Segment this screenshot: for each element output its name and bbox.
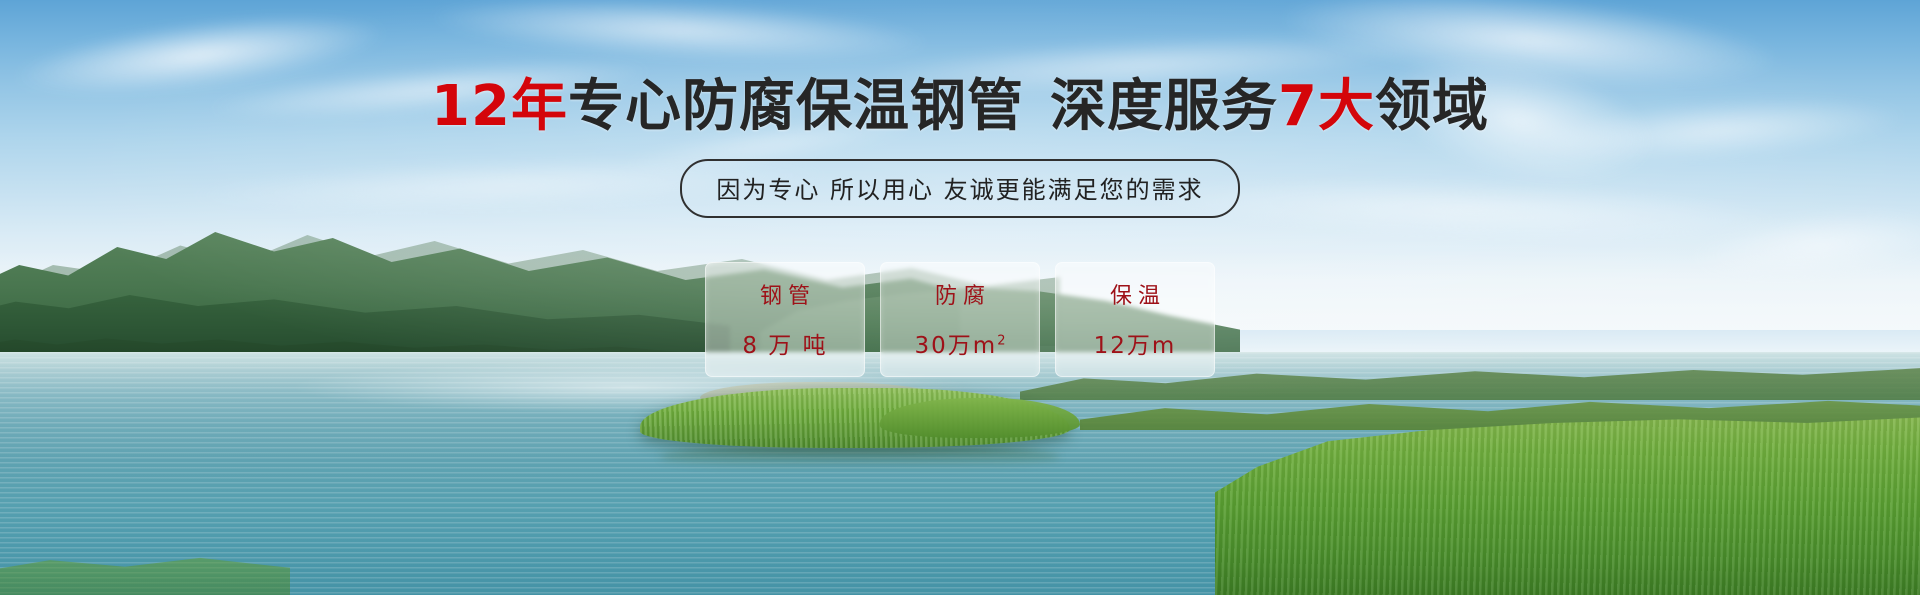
stat-card-label: 保温: [1104, 278, 1166, 310]
stat-card-list: 钢管 8 万 吨 防腐 30万m2 保温 12万m: [705, 262, 1215, 377]
headline-main: 专心防腐保温钢管: [568, 74, 1024, 139]
banner-content: 12年专心防腐保温钢管深度服务7大领域 因为专心 所以用心 友诚更能满足您的需求…: [0, 0, 1920, 595]
headline-service: 深度服务: [1050, 74, 1278, 139]
stat-card-value-text: 8 万 吨: [742, 333, 827, 359]
headline-years: 12年: [431, 74, 568, 139]
stat-card-value-superscript: 2: [997, 334, 1005, 349]
stat-card-value-text: 30万m: [915, 333, 998, 359]
stat-card-insulation: 保温 12万m: [1055, 262, 1215, 377]
stat-card-anticorrosion: 防腐 30万m2: [880, 262, 1040, 377]
stat-card-label: 钢管: [754, 278, 816, 310]
stat-card-value: 30万m2: [915, 326, 1006, 360]
stat-card-value: 12万m: [1094, 326, 1177, 360]
stat-card-label: 防腐: [929, 278, 991, 310]
banner-subtitle: 因为专心 所以用心 友诚更能满足您的需求: [680, 159, 1239, 218]
headline-count: 7大: [1278, 74, 1375, 139]
banner-headline: 12年专心防腐保温钢管深度服务7大领域: [431, 78, 1489, 137]
headline-fields: 领域: [1375, 74, 1489, 139]
stat-card-steel-pipe: 钢管 8 万 吨: [705, 262, 865, 377]
hero-banner: 12年专心防腐保温钢管深度服务7大领域 因为专心 所以用心 友诚更能满足您的需求…: [0, 0, 1920, 595]
stat-card-value-text: 12万m: [1094, 333, 1177, 359]
stat-card-value: 8 万 吨: [742, 326, 827, 360]
